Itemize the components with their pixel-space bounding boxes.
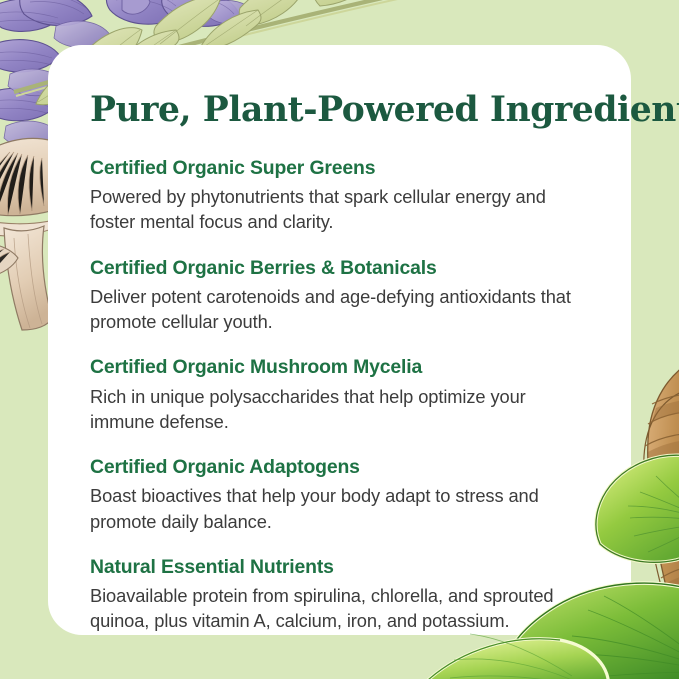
- ingredient-item: Certified Organic Mushroom Mycelia Rich …: [90, 355, 587, 434]
- ingredient-item: Natural Essential Nutrients Bioavailable…: [90, 555, 587, 634]
- ingredient-description: Bioavailable protein from spirulina, chl…: [90, 583, 587, 633]
- ingredient-heading: Certified Organic Mushroom Mycelia: [90, 355, 587, 379]
- ingredient-heading: Certified Organic Berries & Botanicals: [90, 256, 587, 280]
- ingredients-card: Pure, Plant-Powered Ingredients Certifie…: [48, 45, 631, 635]
- page-title: Pure, Plant-Powered Ingredients: [90, 92, 587, 130]
- ingredient-heading: Natural Essential Nutrients: [90, 555, 587, 579]
- ingredient-heading: Certified Organic Super Greens: [90, 156, 587, 180]
- ingredient-description: Deliver potent carotenoids and age-defyi…: [90, 284, 587, 334]
- ingredient-heading: Certified Organic Adaptogens: [90, 455, 587, 479]
- ingredient-item: Certified Organic Super Greens Powered b…: [90, 156, 587, 235]
- ingredient-description: Rich in unique polysaccharides that help…: [90, 384, 587, 434]
- ingredient-description: Powered by phytonutrients that spark cel…: [90, 184, 587, 234]
- ingredient-item: Certified Organic Berries & Botanicals D…: [90, 256, 587, 335]
- ingredient-description: Boast bioactives that help your body ada…: [90, 483, 587, 533]
- ingredient-item: Certified Organic Adaptogens Boast bioac…: [90, 455, 587, 534]
